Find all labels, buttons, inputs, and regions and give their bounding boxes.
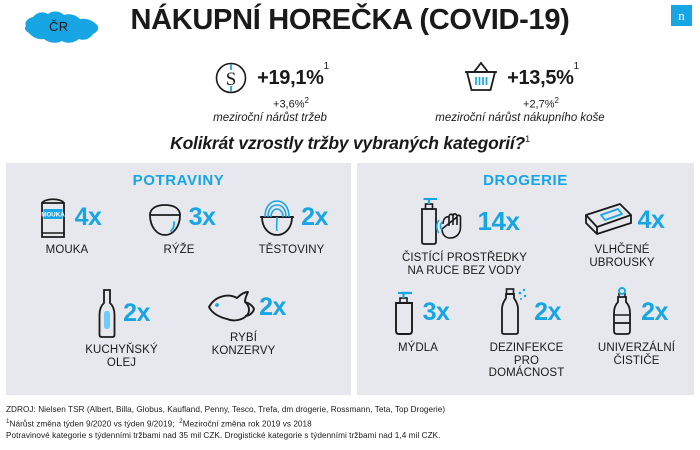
footer-scope-line: Potravinové kategorie s týdenními tržbam…: [6, 430, 696, 442]
item-mydla-multiplier: 3x: [423, 300, 450, 325]
item-mydla[interactable]: 3x MÝDLA: [363, 285, 473, 355]
rice-bowl-icon: [143, 193, 187, 241]
kpi-row: S +19,1%1 +3,6%2 meziroční nárůst tržeb: [0, 58, 700, 120]
kpi-basket-value: +13,5%1: [507, 67, 579, 90]
kpi-revenue-number: +19,1%: [257, 67, 324, 89]
item-testoviny-multiplier: 2x: [301, 205, 328, 230]
kpi-revenue: S +19,1%1 +3,6%2 meziroční nárůst tržeb: [155, 58, 385, 124]
footer-source-line: ZDROJ: Nielsen TSR (Albert, Billa, Globu…: [6, 404, 696, 416]
wet-wipes-pack-icon: [580, 199, 636, 241]
item-cistici-prostredky-multiplier: 14x: [478, 208, 520, 234]
item-olej-multiplier: 2x: [123, 301, 150, 326]
item-cistici-prostredky-label: ČISTÍCÍ PROSTŘEDKY NA RUCE BEZ VODY: [377, 252, 552, 277]
item-ryze-label: RÝŽE: [124, 244, 234, 257]
kpi-basket-number: +13,5%: [507, 67, 574, 89]
oil-bottle-icon: [93, 285, 121, 341]
item-univerzalni-cistice[interactable]: 2x UNIVERZÁLNÍ ČISTIČE: [579, 285, 694, 367]
item-olej-label: KUCHYŇSKÝ OLEJ: [64, 344, 179, 369]
panel-potraviny: POTRAVINY MOUKA 4x MOUKA: [6, 163, 351, 395]
item-olej[interactable]: 2x KUCHYŇSKÝ OLEJ: [64, 285, 179, 369]
item-vlhcene-ubrousky-label: VLHČENÉ UBROUSKY: [557, 244, 687, 269]
item-ryze[interactable]: 3x RÝŽE: [124, 193, 234, 257]
panel-potraviny-items: MOUKA 4x MOUKA 3x RÝŽE: [6, 189, 351, 385]
panel-drogerie-items: 14x ČISTÍCÍ PROSTŘEDKY NA RUCE BEZ VODY …: [357, 189, 694, 385]
item-dezinfekce-multiplier: 2x: [534, 300, 561, 325]
nielsen-logo: n: [671, 5, 692, 26]
disinfectant-spray-icon: [492, 285, 532, 339]
footer-footnote-text-2: Meziroční změna rok 2019 vs 2018: [183, 419, 312, 428]
kpi-revenue-sub: +3,6%2: [155, 96, 385, 111]
item-ryby-multiplier: 2x: [259, 295, 286, 320]
kpi-basket-sub: +2,7%2: [370, 96, 670, 111]
cleaner-bottle-icon: [605, 285, 639, 339]
section-question: Kolikrát vzrostly tržby vybraných katego…: [0, 133, 700, 154]
item-dezinfekce-label: DEZINFEKCE PRO DOMÁCNOST: [469, 342, 584, 380]
pasta-bowl-icon: [255, 193, 299, 241]
item-dezinfekce[interactable]: 2x DEZINFEKCE PRO DOMÁCNOST: [469, 285, 584, 380]
item-mydla-label: MÝDLA: [363, 342, 473, 355]
footer-footnote-line: 1Nárůst změna týden 9/2020 vs týden 9/20…: [6, 416, 696, 430]
kpi-revenue-caption: meziroční nárůst tržeb: [155, 112, 385, 124]
kpi-basket-caption: meziroční nárůst nákupního koše: [370, 112, 670, 124]
coin-dollar-icon: S: [211, 58, 251, 98]
item-vlhcene-ubrousky[interactable]: 4x VLHČENÉ UBROUSKY: [557, 199, 687, 269]
item-vlhcene-ubrousky-multiplier: 4x: [638, 208, 665, 233]
kpi-revenue-value: +19,1%1: [257, 67, 329, 90]
item-cistici-prostredky[interactable]: 14x ČISTÍCÍ PROSTŘEDKY NA RUCE BEZ VODY: [377, 193, 552, 277]
kpi-basket-sub-footnote: 2: [555, 96, 559, 105]
hand-sanitizer-icon: [410, 193, 476, 249]
item-ryby-label: RYBÍ KONZERVY: [186, 332, 301, 357]
section-question-text: Kolikrát vzrostly tržby vybraných katego…: [170, 133, 525, 153]
kpi-revenue-sub-footnote: 2: [305, 96, 309, 105]
fish-icon: [201, 285, 257, 329]
flour-bag-icon: MOUKA: [33, 193, 73, 241]
item-testoviny[interactable]: 2x TĚSTOVINY: [234, 193, 349, 257]
shopping-basket-icon: [461, 58, 501, 98]
panel-potraviny-title: POTRAVINY: [6, 172, 351, 189]
infographic-page: ČR NÁKUPNÍ HOREČKA (COVID-19) n S +19,1%…: [0, 0, 700, 450]
footer-footnote-text-1: Nárůst změna týden 9/2020 vs týden 9/201…: [10, 419, 175, 428]
page-title: NÁKUPNÍ HOREČKA (COVID-19): [0, 4, 700, 37]
header: ČR NÁKUPNÍ HOREČKA (COVID-19) n: [0, 0, 700, 52]
footer-notes: ZDROJ: Nielsen TSR (Albert, Billa, Globu…: [6, 404, 696, 441]
item-mouka[interactable]: MOUKA 4x MOUKA: [12, 193, 122, 257]
item-testoviny-label: TĚSTOVINY: [234, 244, 349, 257]
kpi-basket-sub-number: +2,7%: [523, 99, 555, 111]
item-ryze-multiplier: 3x: [189, 205, 216, 230]
item-mouka-label: MOUKA: [12, 244, 122, 257]
item-univerzalni-cistice-multiplier: 2x: [641, 300, 668, 325]
item-mouka-multiplier: 4x: [75, 205, 102, 230]
svg-text:MOUKA: MOUKA: [41, 212, 65, 219]
kpi-revenue-sub-number: +3,6%: [273, 99, 305, 111]
item-univerzalni-cistice-label: UNIVERZÁLNÍ ČISTIČE: [579, 342, 694, 367]
section-question-footnote: 1: [525, 134, 530, 144]
kpi-basket: +13,5%1 +2,7%2 meziroční nárůst nákupníh…: [370, 58, 670, 124]
item-ryby[interactable]: 2x RYBÍ KONZERVY: [186, 285, 301, 357]
panel-drogerie-title: DROGERIE: [357, 172, 694, 189]
panel-drogerie: DROGERIE 14x ČISTÍCÍ PROSTŘEDKY NA RUC: [357, 163, 694, 395]
kpi-revenue-footnote: 1: [324, 61, 329, 72]
soap-dispenser-icon: [387, 285, 421, 339]
kpi-basket-footnote: 1: [574, 61, 579, 72]
